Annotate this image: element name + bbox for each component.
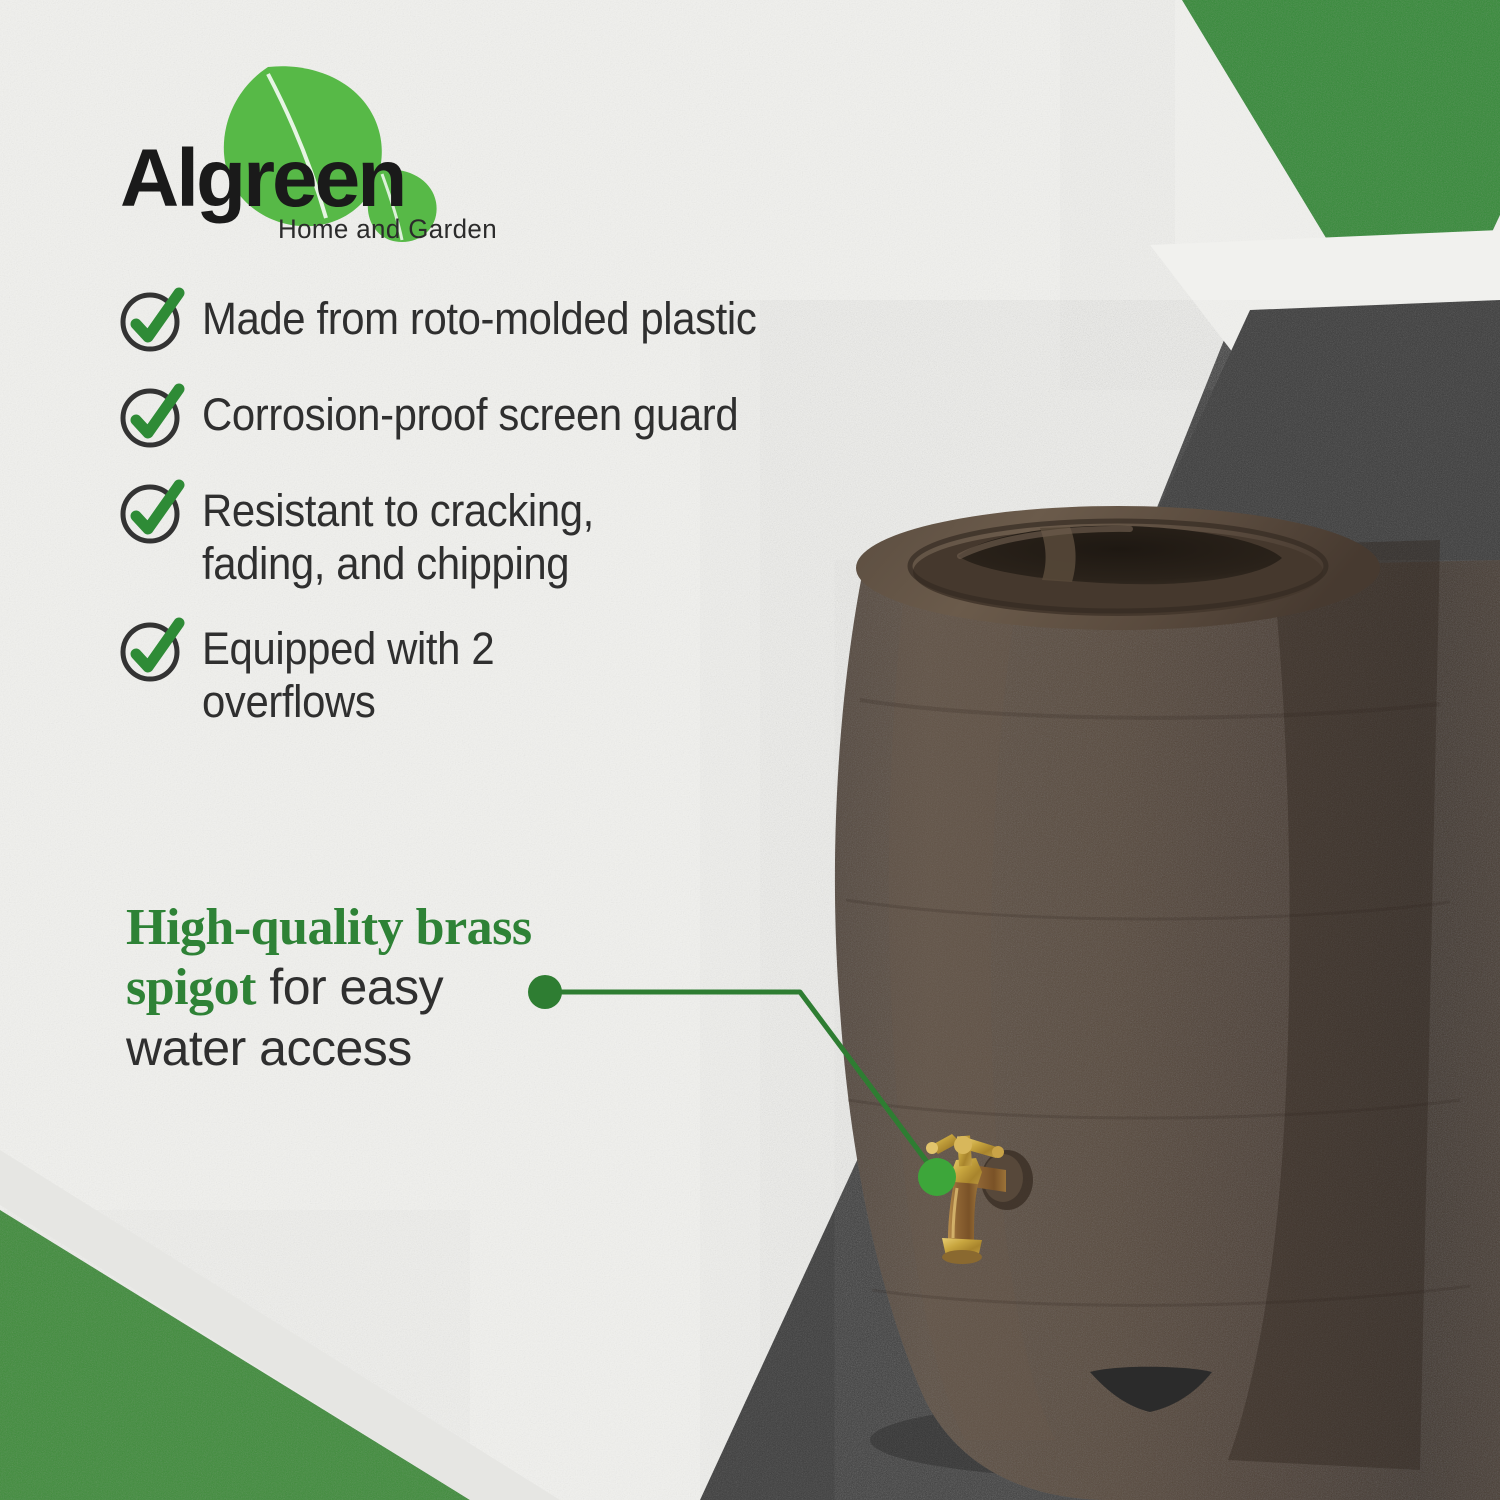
feature-item: Resistant to cracking, fading, and chipp…: [116, 480, 1036, 590]
callout-line-1: High-quality brass: [126, 898, 746, 958]
callout-normal-3: water access: [126, 1020, 412, 1076]
callout-emphasis-1: High-quality brass: [126, 899, 532, 956]
feature-item: Corrosion-proof screen guard: [116, 384, 1036, 452]
brand-wordmark: Algreen: [120, 138, 404, 220]
check-circle-icon: [116, 380, 188, 452]
feature-list: Made from roto-molded plastic Corrosion-…: [116, 288, 1036, 756]
feature-label: Made from roto-molded plastic: [202, 288, 756, 345]
check-circle-icon: [116, 284, 188, 356]
infographic-canvas: Algreen Home and Garden Made from roto-m…: [0, 0, 1500, 1500]
callout-emphasis-2: spigot: [126, 959, 256, 1016]
callout-line-3: water access: [126, 1019, 746, 1077]
feature-label: Resistant to cracking, fading, and chipp…: [202, 480, 594, 590]
feature-item: Made from roto-molded plastic: [116, 288, 1036, 356]
spigot-callout: High-quality brass spigot for easy water…: [126, 898, 746, 1077]
brand-logo: Algreen Home and Garden: [118, 62, 548, 247]
callout-line-2: spigot for easy: [126, 958, 746, 1018]
check-circle-icon: [116, 476, 188, 548]
callout-normal-2: for easy: [256, 959, 443, 1015]
feature-label: Corrosion-proof screen guard: [202, 384, 738, 441]
check-circle-icon: [116, 614, 188, 686]
feature-item: Equipped with 2 overflows: [116, 618, 1036, 728]
feature-label: Equipped with 2 overflows: [202, 618, 494, 728]
